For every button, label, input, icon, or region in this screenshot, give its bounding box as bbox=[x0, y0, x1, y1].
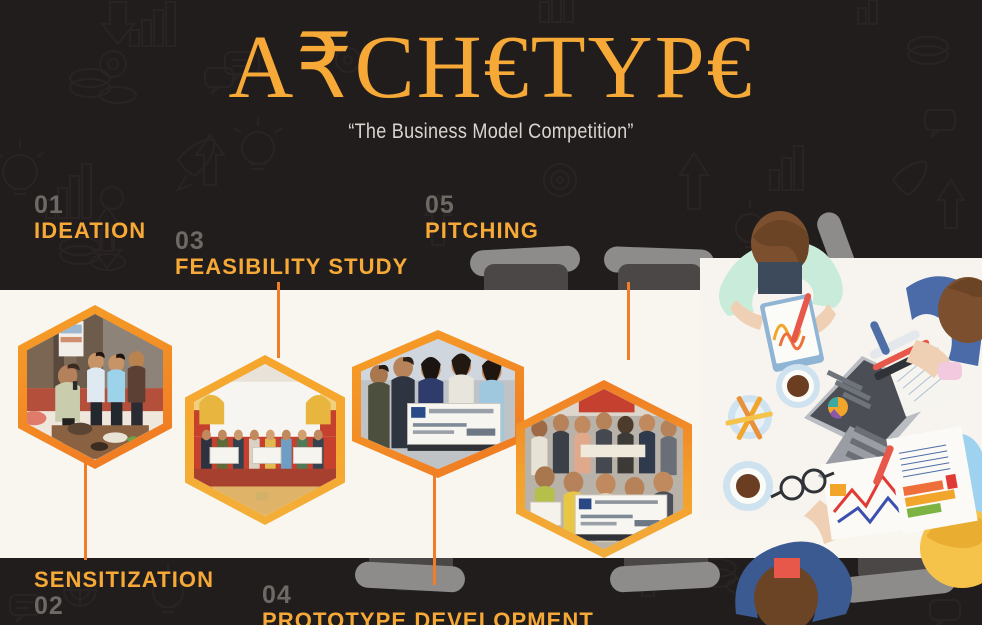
step-ideation: 01 IDEATION bbox=[34, 192, 146, 244]
step-sensitization: SENSITIZATION 02 bbox=[34, 567, 214, 619]
coffee-cup bbox=[776, 364, 820, 408]
step-number: 02 bbox=[34, 593, 214, 619]
step-label: PITCHING bbox=[425, 218, 539, 244]
coffee-cup bbox=[723, 461, 773, 511]
team-meeting-illustration bbox=[700, 200, 982, 625]
target-icon bbox=[544, 164, 576, 196]
step-number: 01 bbox=[34, 192, 146, 218]
hexagon-photo-feasibility[interactable] bbox=[352, 330, 524, 478]
step-number: 03 bbox=[175, 228, 408, 254]
poster-canvas: A₹CH€TYP€ “The Business Model Competitio… bbox=[0, 0, 982, 625]
step-label: IDEATION bbox=[34, 218, 146, 244]
step-pitching: 05 PITCHING bbox=[425, 192, 539, 244]
step-feasibility: 03 FEASIBILITY STUDY bbox=[175, 228, 408, 280]
step-prototype: 04 PROTOTYPE DEVELOPMENT bbox=[262, 582, 594, 625]
connector-pitching bbox=[627, 282, 630, 360]
hexagon-photo-ideation[interactable] bbox=[18, 305, 172, 469]
page-subtitle: “The Business Model Competition” bbox=[69, 120, 914, 144]
connector-feasibility bbox=[277, 282, 280, 358]
title-block: A₹CH€TYP€ “The Business Model Competitio… bbox=[0, 20, 982, 144]
step-label: PROTOTYPE DEVELOPMENT bbox=[262, 608, 594, 625]
step-label: FEASIBILITY STUDY bbox=[175, 254, 408, 280]
rocket-icon bbox=[893, 162, 926, 195]
page-title: A₹CH€TYP€ bbox=[0, 20, 982, 116]
connector-prototype bbox=[433, 470, 436, 585]
lightbulb-icon bbox=[0, 139, 44, 194]
rocket-icon bbox=[178, 140, 214, 190]
hexagon-photo-sensitization[interactable] bbox=[185, 355, 345, 525]
bar-chart-icon bbox=[770, 146, 803, 190]
step-number: 05 bbox=[425, 192, 539, 218]
step-label: SENSITIZATION bbox=[34, 567, 214, 593]
step-number: 04 bbox=[262, 582, 594, 608]
hexagon-photo-prototype[interactable] bbox=[516, 380, 692, 558]
connector-ideation bbox=[84, 455, 87, 560]
